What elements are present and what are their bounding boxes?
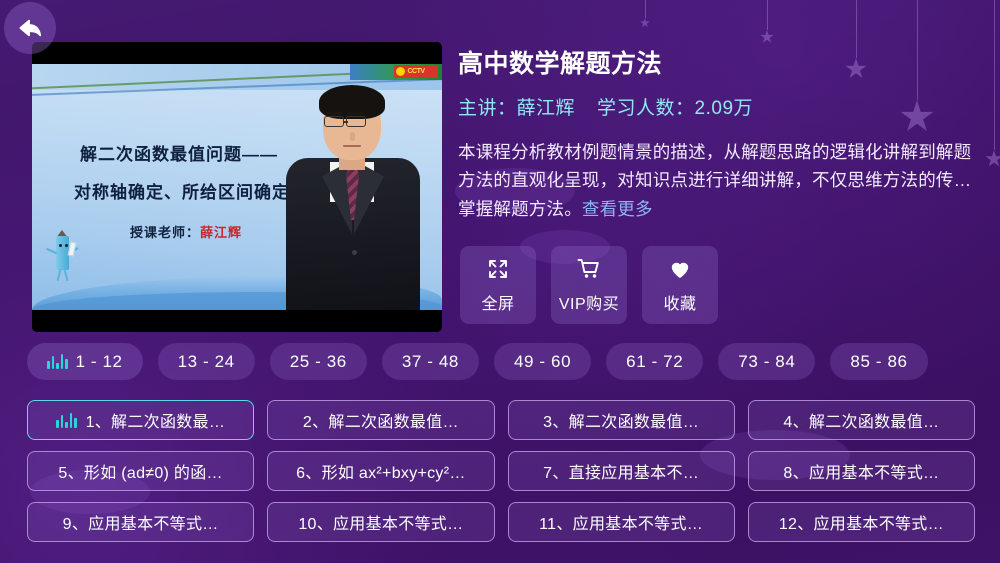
fullscreen-button[interactable]: 全屏	[460, 246, 536, 324]
tab-label: 73 - 84	[738, 352, 795, 372]
tab-label: 85 - 86	[850, 352, 907, 372]
course-info-panel: 高中数学解题方法 主讲：薛江辉学习人数：2.09万 本课程分析教材例题情景的描述…	[458, 44, 978, 223]
lesson-item-2[interactable]: 2、解二次函数最值…	[267, 400, 494, 440]
heart-icon	[668, 257, 692, 281]
slide-teacher-name: 薛江辉	[200, 225, 242, 240]
slide-teacher-label: 授课老师：	[130, 225, 200, 240]
tab-range-2[interactable]: 13 - 24	[158, 343, 255, 380]
tab-range-6[interactable]: 61 - 72	[606, 343, 703, 380]
lesson-list: 1、解二次函数最…2、解二次函数最值…3、解二次函数最值…4、解二次函数最值…5…	[27, 400, 975, 542]
tab-range-4[interactable]: 37 - 48	[382, 343, 479, 380]
favorite-label: 收藏	[663, 290, 696, 314]
fullscreen-label: 全屏	[481, 290, 514, 314]
pencil-mascot-icon	[48, 226, 78, 284]
lesson-label: 1、解二次函数最…	[86, 408, 226, 432]
instructor-label: 主讲：	[458, 98, 517, 119]
course-description-text: 本课程分析教材例题情景的描述，从解题思路的逻辑化讲解到解题方法的直观化呈现，对知…	[458, 142, 971, 219]
lesson-item-1[interactable]: 1、解二次函数最…	[27, 400, 254, 440]
lesson-item-8[interactable]: 8、应用基本不等式…	[748, 451, 975, 491]
course-description: 本课程分析教材例题情景的描述，从解题思路的逻辑化讲解到解题方法的直观化呈现，对知…	[458, 138, 978, 223]
lesson-item-9[interactable]: 9、应用基本不等式…	[27, 502, 254, 542]
slide-title-line-2: 对称轴确定、所给区间确定	[74, 178, 290, 203]
lesson-label: 6、形如 ax²+bxy+cy²…	[296, 459, 466, 483]
learners-count: 2.09万	[695, 98, 753, 119]
tab-range-7[interactable]: 73 - 84	[718, 343, 815, 380]
equalizer-playing-icon	[47, 354, 68, 369]
channel-logo: CCTV	[394, 65, 438, 78]
equalizer-playing-icon	[56, 413, 77, 428]
tab-label: 49 - 60	[514, 352, 571, 372]
slide-title-line-1: 解二次函数最值问题——	[80, 140, 278, 165]
lesson-item-11[interactable]: 11、应用基本不等式…	[508, 502, 735, 542]
cart-icon	[577, 257, 601, 281]
tab-range-8[interactable]: 85 - 86	[830, 343, 927, 380]
video-slide: CCTV 解二次函数最值问题—— 对称轴确定、所给区间确定 授课老师：薛江辉	[32, 64, 442, 310]
course-title: 高中数学解题方法	[458, 44, 978, 80]
lesson-label: 8、应用基本不等式…	[783, 459, 939, 483]
lesson-item-4[interactable]: 4、解二次函数最值…	[748, 400, 975, 440]
tab-label: 61 - 72	[626, 352, 683, 372]
tab-range-5[interactable]: 49 - 60	[494, 343, 591, 380]
video-player[interactable]: CCTV 解二次函数最值问题—— 对称轴确定、所给区间确定 授课老师：薛江辉	[32, 42, 442, 332]
course-meta: 主讲：薛江辉学习人数：2.09万	[458, 93, 978, 120]
fullscreen-icon	[486, 257, 510, 281]
back-arrow-icon	[16, 14, 44, 42]
tab-label: 13 - 24	[178, 352, 235, 372]
lesson-label: 7、直接应用基本不…	[543, 459, 699, 483]
lesson-item-7[interactable]: 7、直接应用基本不…	[508, 451, 735, 491]
tab-label: 1 - 12	[76, 352, 123, 372]
learners-label: 学习人数：	[597, 98, 695, 119]
lesson-label: 9、应用基本不等式…	[63, 510, 219, 534]
view-more-link[interactable]: 查看更多	[582, 199, 653, 219]
action-button-group: 全屏 VIP购买 收藏	[460, 246, 718, 324]
lesson-label: 10、应用基本不等式…	[298, 510, 463, 534]
vip-purchase-button[interactable]: VIP购买	[551, 246, 627, 324]
lesson-label: 5、形如 (ad≠0) 的函…	[58, 459, 222, 483]
tab-range-3[interactable]: 25 - 36	[270, 343, 367, 380]
chapter-range-tabs: 1 - 1213 - 2425 - 3637 - 4849 - 6061 - 7…	[27, 343, 928, 380]
lesson-label: 2、解二次函数最值…	[303, 408, 459, 432]
lesson-item-12[interactable]: 12、应用基本不等式…	[748, 502, 975, 542]
lesson-label: 12、应用基本不等式…	[779, 510, 944, 534]
lesson-label: 4、解二次函数最值…	[783, 408, 939, 432]
favorite-button[interactable]: 收藏	[642, 246, 718, 324]
vip-purchase-label: VIP购买	[559, 290, 619, 314]
lesson-label: 11、应用基本不等式…	[539, 510, 703, 534]
tab-label: 25 - 36	[290, 352, 347, 372]
lesson-item-10[interactable]: 10、应用基本不等式…	[267, 502, 494, 542]
lesson-item-3[interactable]: 3、解二次函数最值…	[508, 400, 735, 440]
instructor-name: 薛江辉	[517, 98, 576, 119]
instructor-photo	[286, 86, 420, 310]
lesson-item-6[interactable]: 6、形如 ax²+bxy+cy²…	[267, 451, 494, 491]
tab-label: 37 - 48	[402, 352, 459, 372]
lesson-label: 3、解二次函数最值…	[543, 408, 699, 432]
back-button[interactable]	[4, 2, 56, 54]
slide-teacher-line: 授课老师：薛江辉	[130, 222, 242, 241]
tab-range-1[interactable]: 1 - 12	[27, 343, 143, 380]
lesson-item-5[interactable]: 5、形如 (ad≠0) 的函…	[27, 451, 254, 491]
